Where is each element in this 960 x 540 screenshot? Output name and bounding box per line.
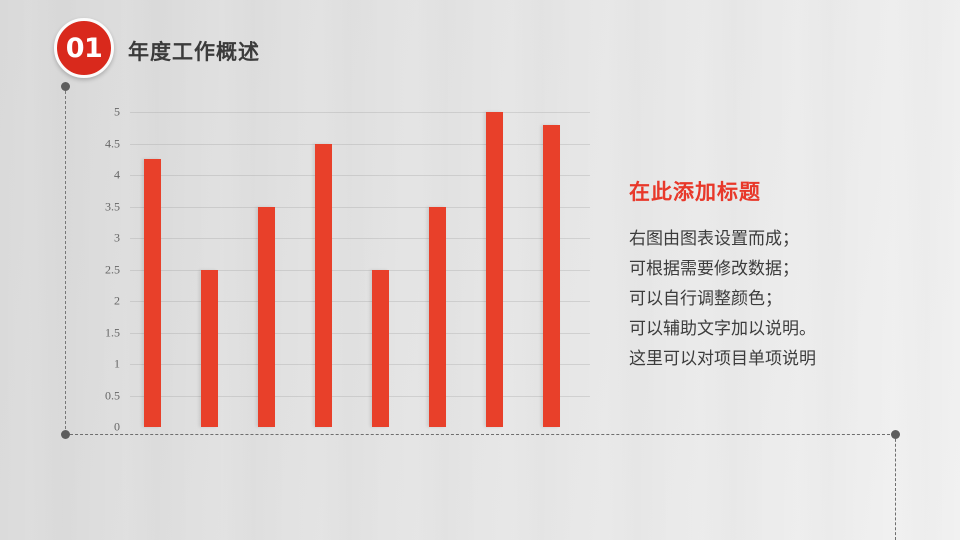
chart-gridline [130, 207, 590, 208]
y-axis-tick-label: 0.5 [105, 388, 120, 403]
chart-gridline [130, 301, 590, 302]
y-axis-tick-label: 2.5 [105, 262, 120, 277]
panel-text-line: 可以辅助文字加以说明。 [629, 314, 929, 344]
frame-dot-top-left [61, 82, 70, 91]
chart-gridline [130, 270, 590, 271]
chart-gridline [130, 144, 590, 145]
chart-bar [543, 125, 560, 427]
panel-text-line: 这里可以对项目单项说明 [629, 344, 929, 374]
chart-gridline [130, 364, 590, 365]
y-axis-tick-label: 4.5 [105, 136, 120, 151]
chart-plot-area [130, 112, 590, 427]
panel-text-line: 可根据需要修改数据； [629, 254, 929, 284]
chart-bar [372, 270, 389, 428]
y-axis-tick-label: 3.5 [105, 199, 120, 214]
chart-y-axis: 00.511.522.533.544.55 [78, 112, 124, 427]
y-axis-tick-label: 3 [114, 231, 120, 246]
chart-bar [315, 144, 332, 428]
frame-dot-bottom-right [891, 430, 900, 439]
slide-header: 01 年度工作概述 [0, 0, 960, 96]
bar-chart: 00.511.522.533.544.55 [78, 112, 598, 437]
chart-bar [144, 159, 161, 427]
y-axis-tick-label: 1.5 [105, 325, 120, 340]
panel-body-text: 右图由图表设置而成；可根据需要修改数据；可以自行调整颜色；可以辅助文字加以说明。… [629, 224, 929, 374]
chart-gridline [130, 238, 590, 239]
panel-heading: 在此添加标题 [629, 176, 929, 206]
panel-text-line: 右图由图表设置而成； [629, 224, 929, 254]
y-axis-tick-label: 4 [114, 168, 120, 183]
chart-gridline [130, 175, 590, 176]
chart-gridline [130, 396, 590, 397]
chart-bar [486, 112, 503, 427]
page-title: 年度工作概述 [128, 36, 260, 66]
chart-bar [258, 207, 275, 428]
chart-gridline [130, 333, 590, 334]
frame-dashed-line-left [65, 86, 66, 434]
chart-bar [429, 207, 446, 428]
frame-dashed-line-right [895, 434, 896, 540]
section-number-label: 01 [66, 35, 103, 62]
description-panel: 在此添加标题 右图由图表设置而成；可根据需要修改数据；可以自行调整颜色；可以辅助… [629, 176, 929, 374]
chart-bar [201, 270, 218, 428]
y-axis-tick-label: 5 [114, 105, 120, 120]
frame-dot-bottom-left [61, 430, 70, 439]
panel-text-line: 可以自行调整颜色； [629, 284, 929, 314]
y-axis-tick-label: 2 [114, 294, 120, 309]
y-axis-tick-label: 0 [114, 420, 120, 435]
y-axis-tick-label: 1 [114, 357, 120, 372]
chart-gridline [130, 112, 590, 113]
slide-canvas: 01 年度工作概述 00.511.522.533.544.55 在此添加标题 右… [0, 0, 960, 540]
section-number-badge: 01 [54, 18, 114, 78]
